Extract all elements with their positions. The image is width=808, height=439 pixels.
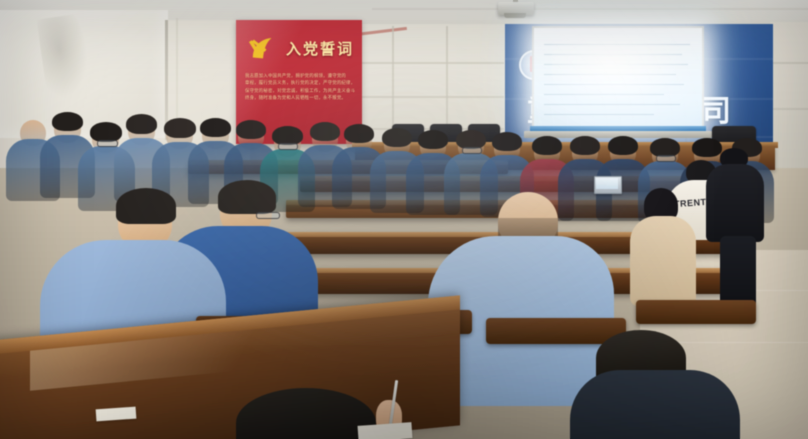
hair <box>692 138 722 157</box>
paper-sheet <box>358 422 413 439</box>
hair <box>90 122 122 142</box>
coat-body <box>630 216 696 306</box>
ceiling-projector-icon <box>498 2 534 15</box>
glasses-icon <box>97 140 118 147</box>
torso <box>570 370 740 439</box>
hair <box>236 120 266 139</box>
hair <box>310 122 340 141</box>
oath-line: 我志愿加入中国共产党，拥护党的纲领，遵守党的 <box>245 72 355 79</box>
laptop-screen <box>596 178 618 189</box>
hair <box>344 124 374 143</box>
bench-back <box>636 300 756 324</box>
hair <box>382 128 412 147</box>
wall-panel-line <box>770 108 808 110</box>
hammer-sickle-icon <box>246 32 280 66</box>
glasses-icon <box>656 155 676 162</box>
hair <box>164 118 196 138</box>
oath-line: 终身，随时准备为党和人民牺牲一切，永不叛党。 <box>245 94 355 101</box>
glasses-icon <box>462 147 482 154</box>
meeting-room-photo: 入党誓词 我志愿加入中国共产党，拥护党的纲领，遵守党的 章程，履行党员义务，执行… <box>0 0 808 439</box>
hair <box>218 180 276 214</box>
right-wall <box>770 22 808 172</box>
hair <box>492 132 522 151</box>
jacket-body <box>706 164 764 242</box>
banner-title: 入党誓词 <box>286 38 358 59</box>
hair <box>200 118 231 137</box>
slide-text-line <box>544 104 680 105</box>
ceiling-seam-secondary <box>372 8 808 10</box>
hair <box>116 188 176 224</box>
wall-character-2: 司 <box>701 86 731 130</box>
slide-text-line <box>544 114 654 115</box>
wall-panel-line <box>358 96 504 98</box>
whiteboard-smudge <box>37 13 94 101</box>
hair <box>570 136 600 155</box>
hair <box>608 136 638 155</box>
wall-panel-line <box>358 62 504 64</box>
banner-oath-text: 我志愿加入中国共产党，拥护党的纲领，遵守党的 章程，履行党员义务，执行党的决定，… <box>245 72 355 102</box>
glasses-icon <box>256 212 280 219</box>
laptop[interactable] <box>594 176 622 194</box>
wall-panel-line <box>770 62 808 64</box>
projector-hotspot <box>552 36 682 102</box>
hair <box>418 130 448 149</box>
hair <box>126 114 157 134</box>
hair <box>532 136 562 155</box>
oath-line: 保守党的秘密，对党忠诚，积极工作，为共产主义奋斗 <box>245 87 355 94</box>
oath-line: 章程，履行党员义务，执行党的决定，严守党的纪律， <box>245 79 355 86</box>
projection-screen <box>534 28 702 128</box>
glasses-icon <box>278 143 298 150</box>
hair <box>52 112 83 131</box>
